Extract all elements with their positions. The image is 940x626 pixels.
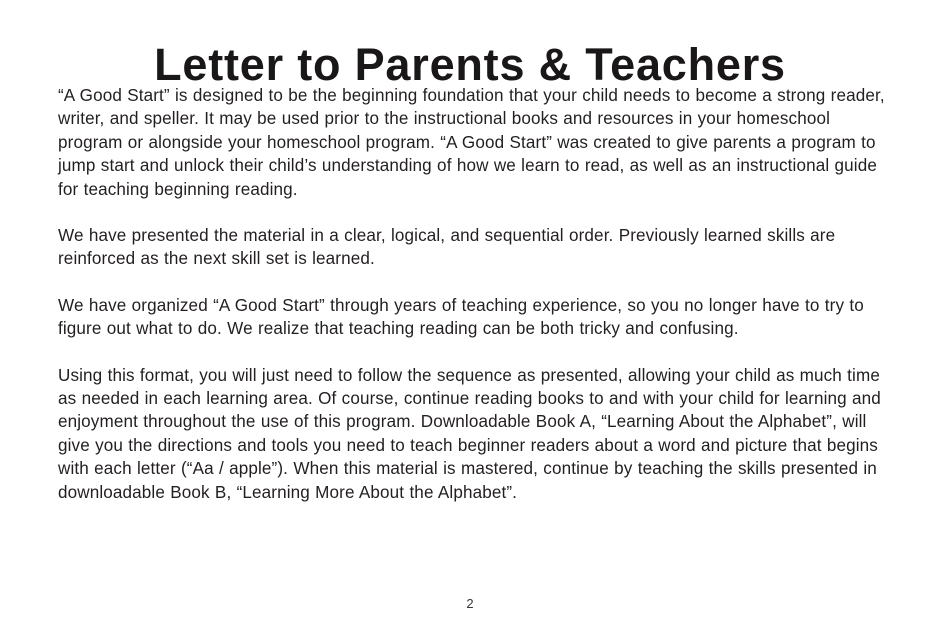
document-body: “A Good Start” is designed to be the beg… xyxy=(58,84,886,504)
paragraph: Using this format, you will just need to… xyxy=(58,364,886,504)
page-number: 2 xyxy=(0,596,940,612)
document-page: Letter to Parents & Teachers “A Good Sta… xyxy=(0,0,940,626)
paragraph: We have presented the material in a clea… xyxy=(58,224,886,271)
paragraph: We have organized “A Good Start” through… xyxy=(58,294,886,341)
paragraph: “A Good Start” is designed to be the beg… xyxy=(58,84,886,201)
